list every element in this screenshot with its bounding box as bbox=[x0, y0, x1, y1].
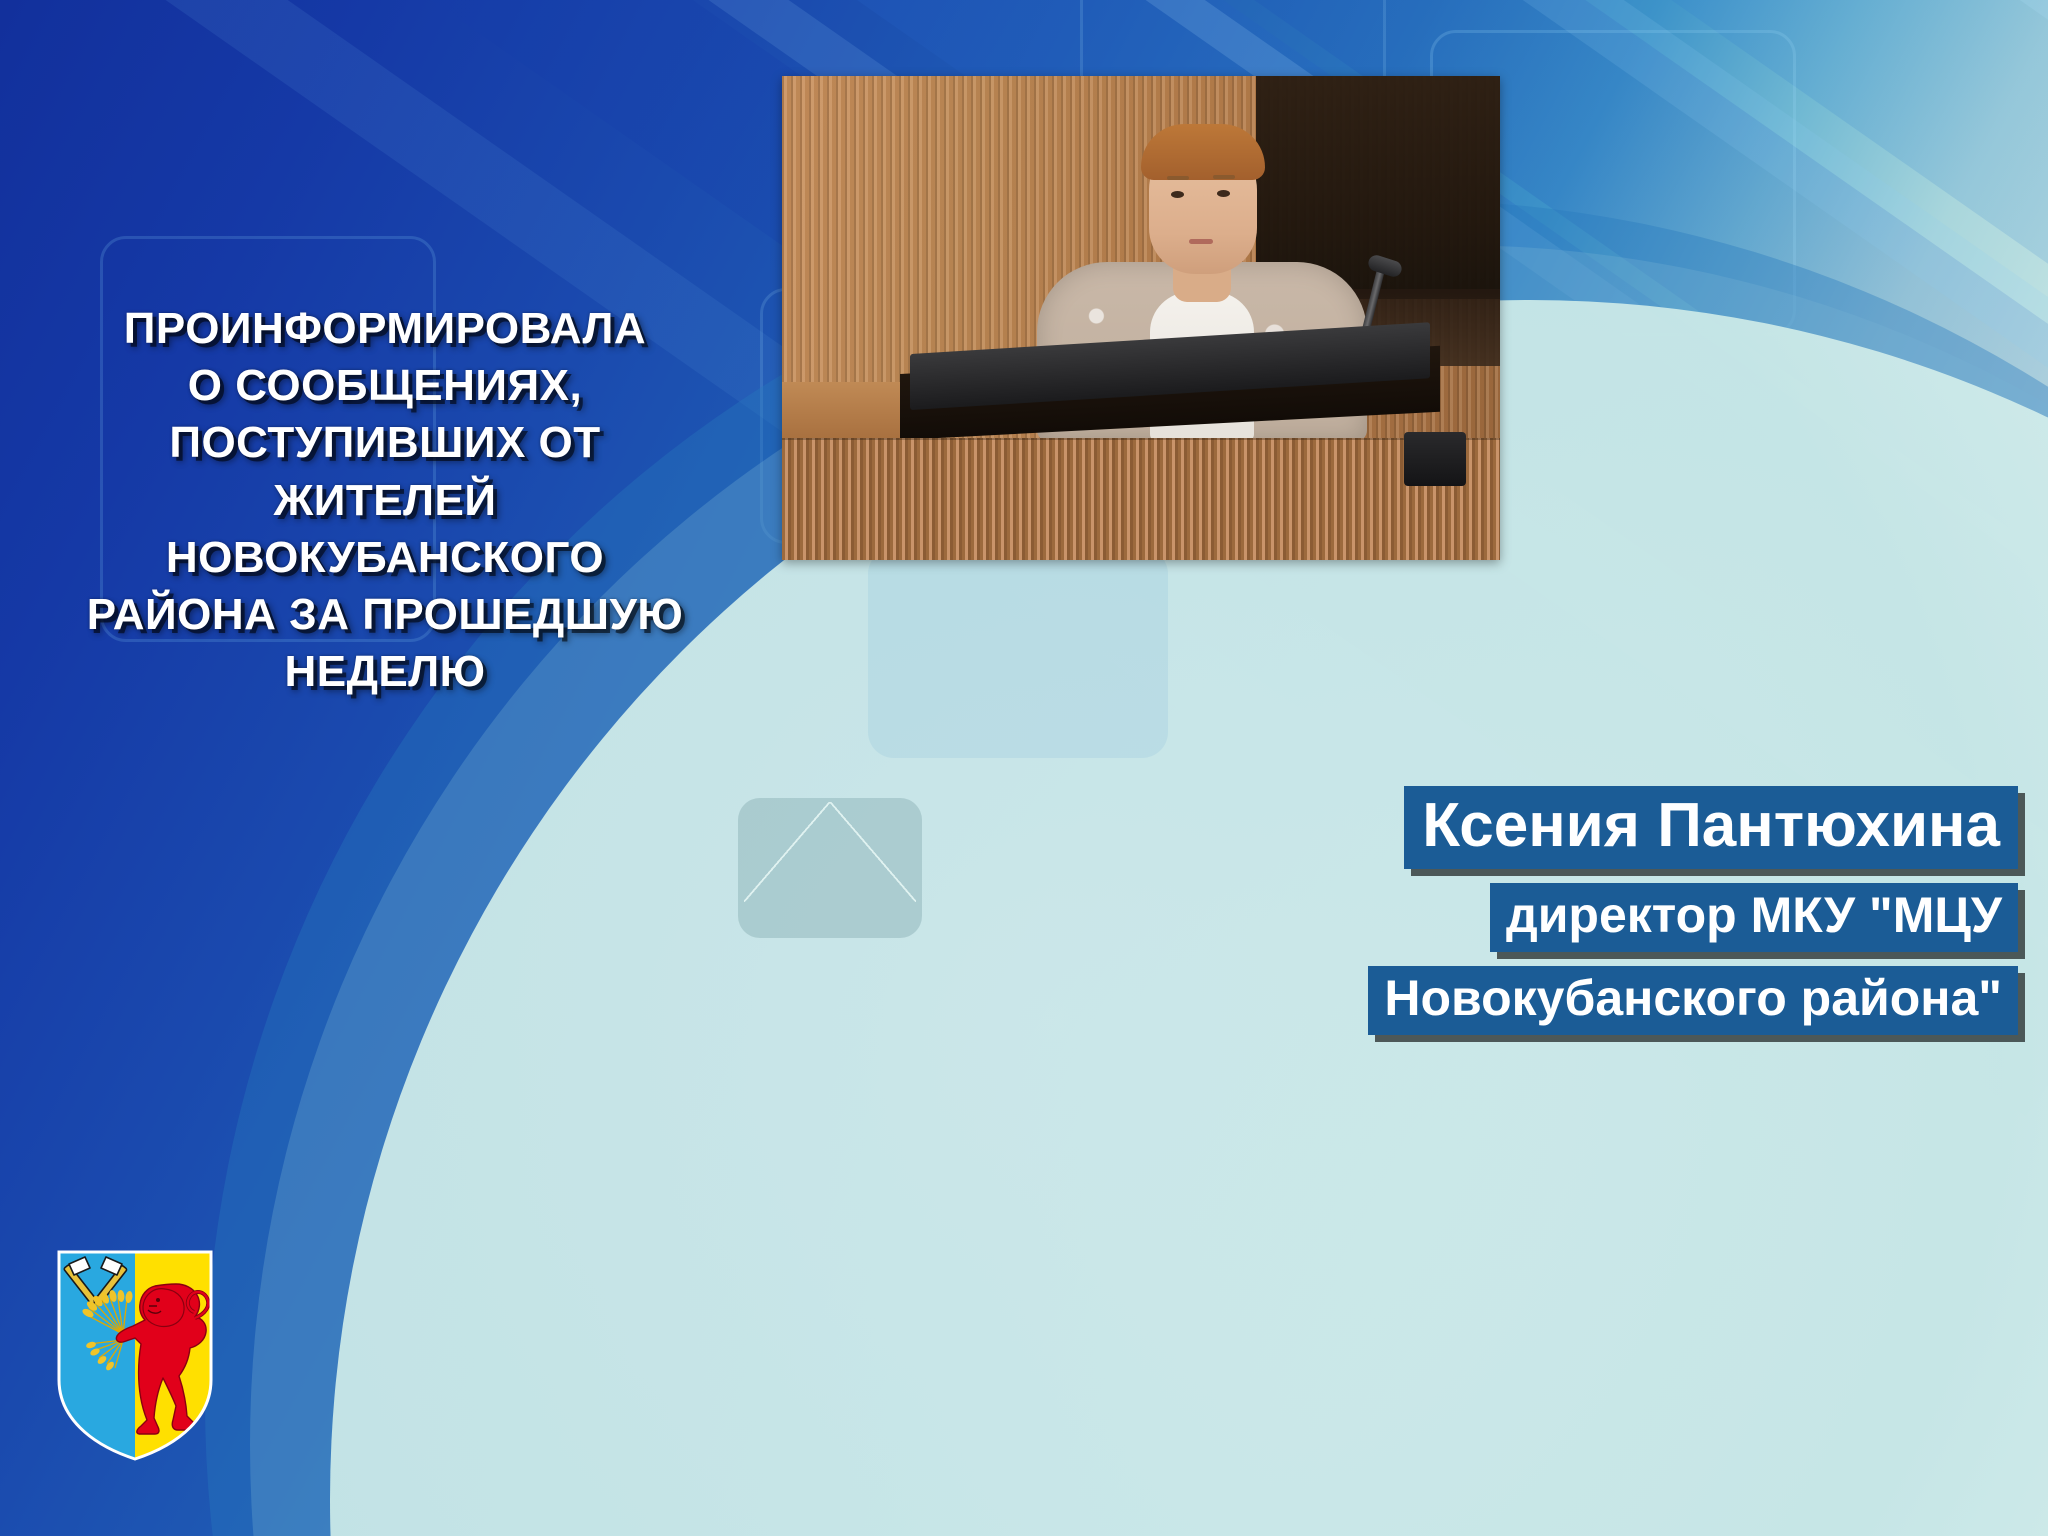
podium-side bbox=[782, 382, 902, 440]
page-title: ПРОИНФОРМИРОВАЛА О СООБЩЕНИЯХ, ПОСТУПИВШ… bbox=[20, 300, 750, 700]
district-coat-of-arms bbox=[55, 1248, 215, 1463]
eye-right bbox=[1217, 190, 1230, 197]
broadcast-slide: ПРОИНФОРМИРОВАЛА О СООБЩЕНИЯХ, ПОСТУПИВШ… bbox=[0, 0, 2048, 1536]
speaker-title-line-2: Новокубанского района" bbox=[1368, 966, 2018, 1035]
eyebrow-left bbox=[1167, 176, 1189, 180]
equipment-box bbox=[1404, 432, 1466, 486]
speaker-photo bbox=[782, 76, 1500, 560]
envelope-watermark-icon bbox=[738, 798, 922, 938]
mouth bbox=[1189, 239, 1213, 244]
speaker-title-line-1: директор МКУ "МЦУ bbox=[1490, 883, 2018, 952]
watermark-rounded-square bbox=[868, 548, 1168, 758]
speaker-name-banner: Ксения Пантюхина директор МКУ "МЦУ Новок… bbox=[1368, 786, 2018, 1035]
coat-of-arms-icon bbox=[55, 1248, 215, 1463]
eyebrow-right bbox=[1213, 175, 1235, 179]
hair-front bbox=[1141, 124, 1265, 180]
eye-left bbox=[1171, 191, 1184, 198]
speaker-name: Ксения Пантюхина bbox=[1404, 786, 2018, 869]
podium-front bbox=[782, 438, 1500, 560]
